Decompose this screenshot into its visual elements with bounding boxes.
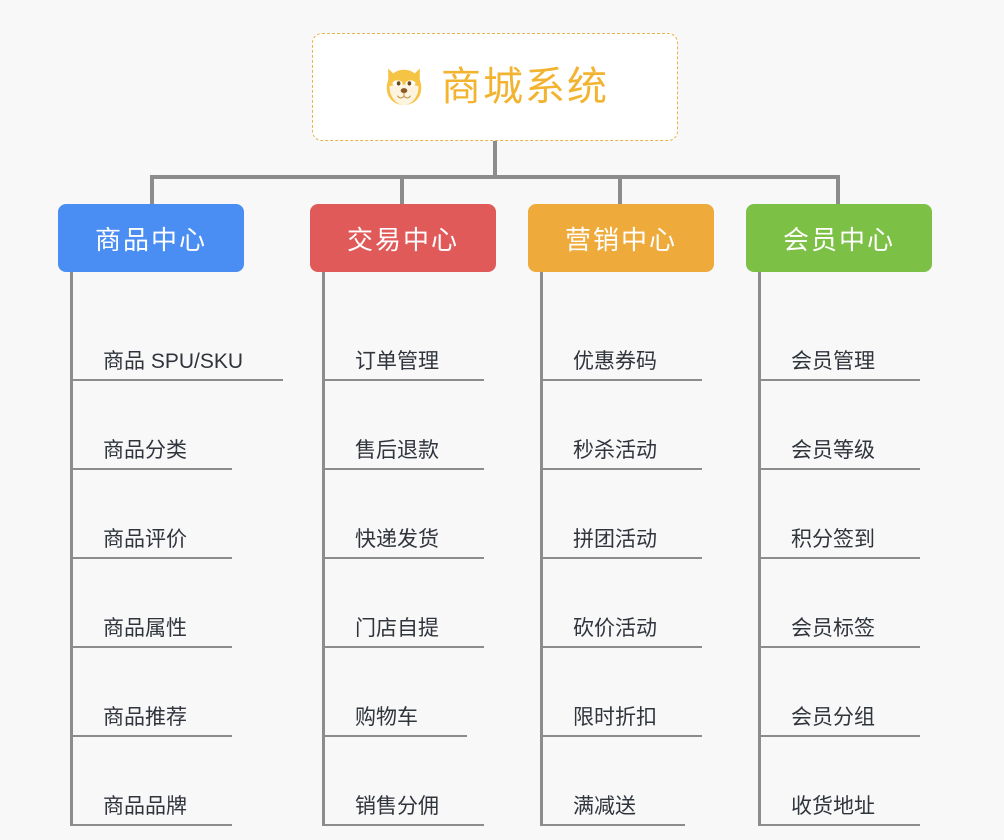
column-marketing-center: 营销中心 优惠券码 秒杀活动 拼团活动 砍价活动 限时折扣 满减送: [528, 204, 714, 826]
leaf-label: 会员等级: [791, 439, 875, 464]
leaf-item[interactable]: 商品评价: [73, 470, 244, 559]
leaf-label: 秒杀活动: [573, 439, 657, 464]
leaf-label: 拼团活动: [573, 528, 657, 553]
category-header-1[interactable]: 商品中心: [58, 204, 244, 272]
leaf-item[interactable]: 砍价活动: [543, 559, 714, 648]
leaf-item[interactable]: 门店自提: [325, 559, 496, 648]
leaf-label: 会员分组: [791, 706, 875, 731]
leaf-label: 砍价活动: [573, 617, 657, 642]
connector-drop-1: [150, 175, 154, 204]
org-chart-diagram: 商城系统 商品中心 商品 SPU/SKU 商品分类 商品评价 商品属性 商品推荐…: [0, 0, 1004, 840]
leaf-label: 优惠券码: [573, 350, 657, 375]
leaf-item[interactable]: 订单管理: [325, 292, 496, 381]
leaf-item[interactable]: 商品分类: [73, 381, 244, 470]
leaf-label: 积分签到: [791, 528, 875, 553]
leaf-label: 满减送: [573, 795, 636, 820]
leaf-list-3: 优惠券码 秒杀活动 拼团活动 砍价活动 限时折扣 满减送: [540, 272, 714, 826]
leaf-label: 售后退款: [355, 439, 439, 464]
leaf-label: 商品品牌: [103, 795, 187, 820]
leaf-item[interactable]: 售后退款: [325, 381, 496, 470]
leaf-label: 销售分佣: [355, 795, 439, 820]
shiba-dog-face-icon: [381, 64, 427, 110]
leaf-item[interactable]: 商品属性: [73, 559, 244, 648]
root-title: 商城系统: [441, 67, 609, 107]
leaf-item[interactable]: 销售分佣: [325, 737, 496, 826]
leaf-label: 商品 SPU/SKU: [103, 350, 243, 375]
leaf-label: 会员管理: [791, 350, 875, 375]
leaf-item[interactable]: 购物车: [325, 648, 496, 737]
leaf-list-4: 会员管理 会员等级 积分签到 会员标签 会员分组 收货地址: [758, 272, 932, 826]
connector-drop-4: [836, 175, 840, 204]
category-header-3[interactable]: 营销中心: [528, 204, 714, 272]
connector-drop-2: [400, 175, 404, 204]
column-member-center: 会员中心 会员管理 会员等级 积分签到 会员标签 会员分组 收货地址: [746, 204, 932, 826]
leaf-item[interactable]: 快递发货: [325, 470, 496, 559]
leaf-item[interactable]: 限时折扣: [543, 648, 714, 737]
leaf-label: 商品推荐: [103, 706, 187, 731]
category-header-4[interactable]: 会员中心: [746, 204, 932, 272]
leaf-label: 购物车: [355, 706, 418, 731]
leaf-item[interactable]: 优惠券码: [543, 292, 714, 381]
leaf-item[interactable]: 满减送: [543, 737, 714, 826]
leaf-item[interactable]: 秒杀活动: [543, 381, 714, 470]
leaf-list-1: 商品 SPU/SKU 商品分类 商品评价 商品属性 商品推荐 商品品牌: [70, 272, 244, 826]
leaf-label: 商品评价: [103, 528, 187, 553]
leaf-item[interactable]: 收货地址: [761, 737, 932, 826]
category-title-3: 营销中心: [565, 220, 677, 257]
root-node-mall-system[interactable]: 商城系统: [312, 33, 678, 141]
leaf-label: 收货地址: [791, 795, 875, 820]
leaf-item[interactable]: 商品推荐: [73, 648, 244, 737]
connector-root-stem: [493, 141, 497, 178]
category-title-2: 交易中心: [347, 220, 459, 257]
leaf-item[interactable]: 会员标签: [761, 559, 932, 648]
leaf-item[interactable]: 会员管理: [761, 292, 932, 381]
category-title-4: 会员中心: [783, 220, 895, 257]
leaf-label: 限时折扣: [573, 706, 657, 731]
leaf-item[interactable]: 商品品牌: [73, 737, 244, 826]
leaf-item[interactable]: 拼团活动: [543, 470, 714, 559]
leaf-item[interactable]: 商品 SPU/SKU: [73, 292, 244, 381]
leaf-label: 快递发货: [355, 528, 439, 553]
leaf-list-2: 订单管理 售后退款 快递发货 门店自提 购物车 销售分佣: [322, 272, 496, 826]
leaf-label: 商品分类: [103, 439, 187, 464]
leaf-item[interactable]: 积分签到: [761, 470, 932, 559]
connector-horizontal-bus: [150, 175, 840, 179]
leaf-label: 门店自提: [355, 617, 439, 642]
connector-drop-3: [618, 175, 622, 204]
column-product-center: 商品中心 商品 SPU/SKU 商品分类 商品评价 商品属性 商品推荐 商品品牌: [58, 204, 244, 826]
category-header-2[interactable]: 交易中心: [310, 204, 496, 272]
category-title-1: 商品中心: [95, 220, 207, 257]
leaf-label: 订单管理: [355, 350, 439, 375]
leaf-item[interactable]: 会员等级: [761, 381, 932, 470]
leaf-label: 商品属性: [103, 617, 187, 642]
column-trade-center: 交易中心 订单管理 售后退款 快递发货 门店自提 购物车 销售分佣: [310, 204, 496, 826]
leaf-label: 会员标签: [791, 617, 875, 642]
leaf-item[interactable]: 会员分组: [761, 648, 932, 737]
